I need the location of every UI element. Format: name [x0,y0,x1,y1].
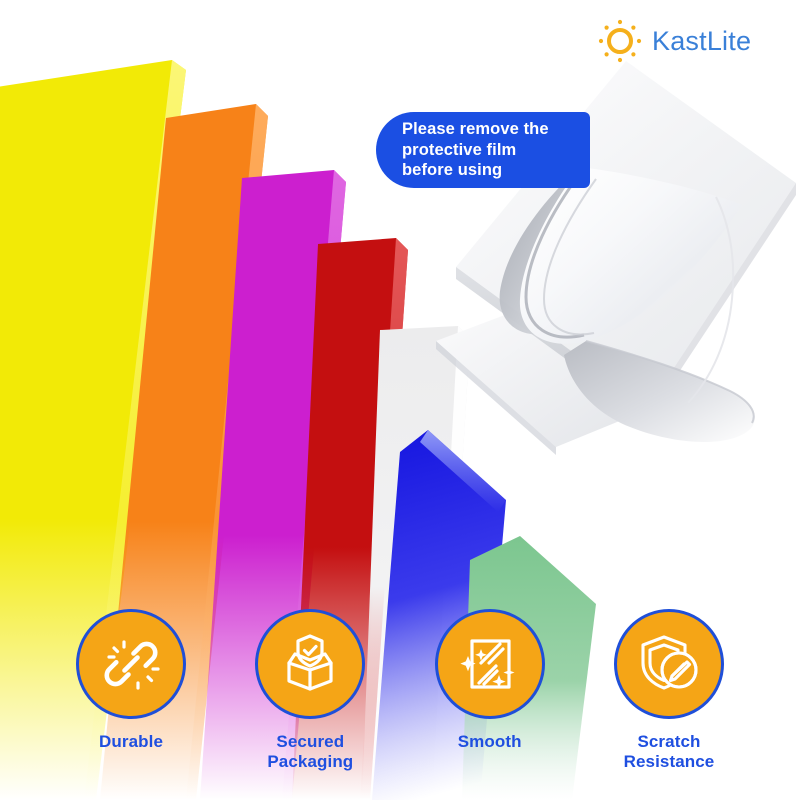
brand-name: KastLite [652,28,751,55]
feature-scratch-resistance: Scratch Resistance [594,609,744,772]
feature-icon-circle [435,609,545,719]
product-image-canvas: Please remove the protective film before… [0,0,800,800]
feature-icon-circle [614,609,724,719]
shield-knife-icon [637,632,701,696]
feature-smooth: Smooth [415,609,565,772]
feature-secured-packaging: Secured Packaging [235,609,385,772]
shield-box-icon [278,632,342,696]
feature-durable: Durable [56,609,206,772]
feature-badges-row: Durable Secured Packaging [0,609,800,772]
chain-link-icon [100,633,162,695]
feature-label: Secured Packaging [267,732,353,772]
feature-label: Smooth [458,732,522,752]
feature-icon-circle [76,609,186,719]
feature-label: Scratch Resistance [624,732,715,772]
sparkling-panel-icon [459,633,521,695]
feature-label: Durable [99,732,163,752]
protective-film-callout: Please remove the protective film before… [376,112,590,188]
callout-text: Please remove the protective film before… [402,119,549,182]
feature-icon-circle [255,609,365,719]
